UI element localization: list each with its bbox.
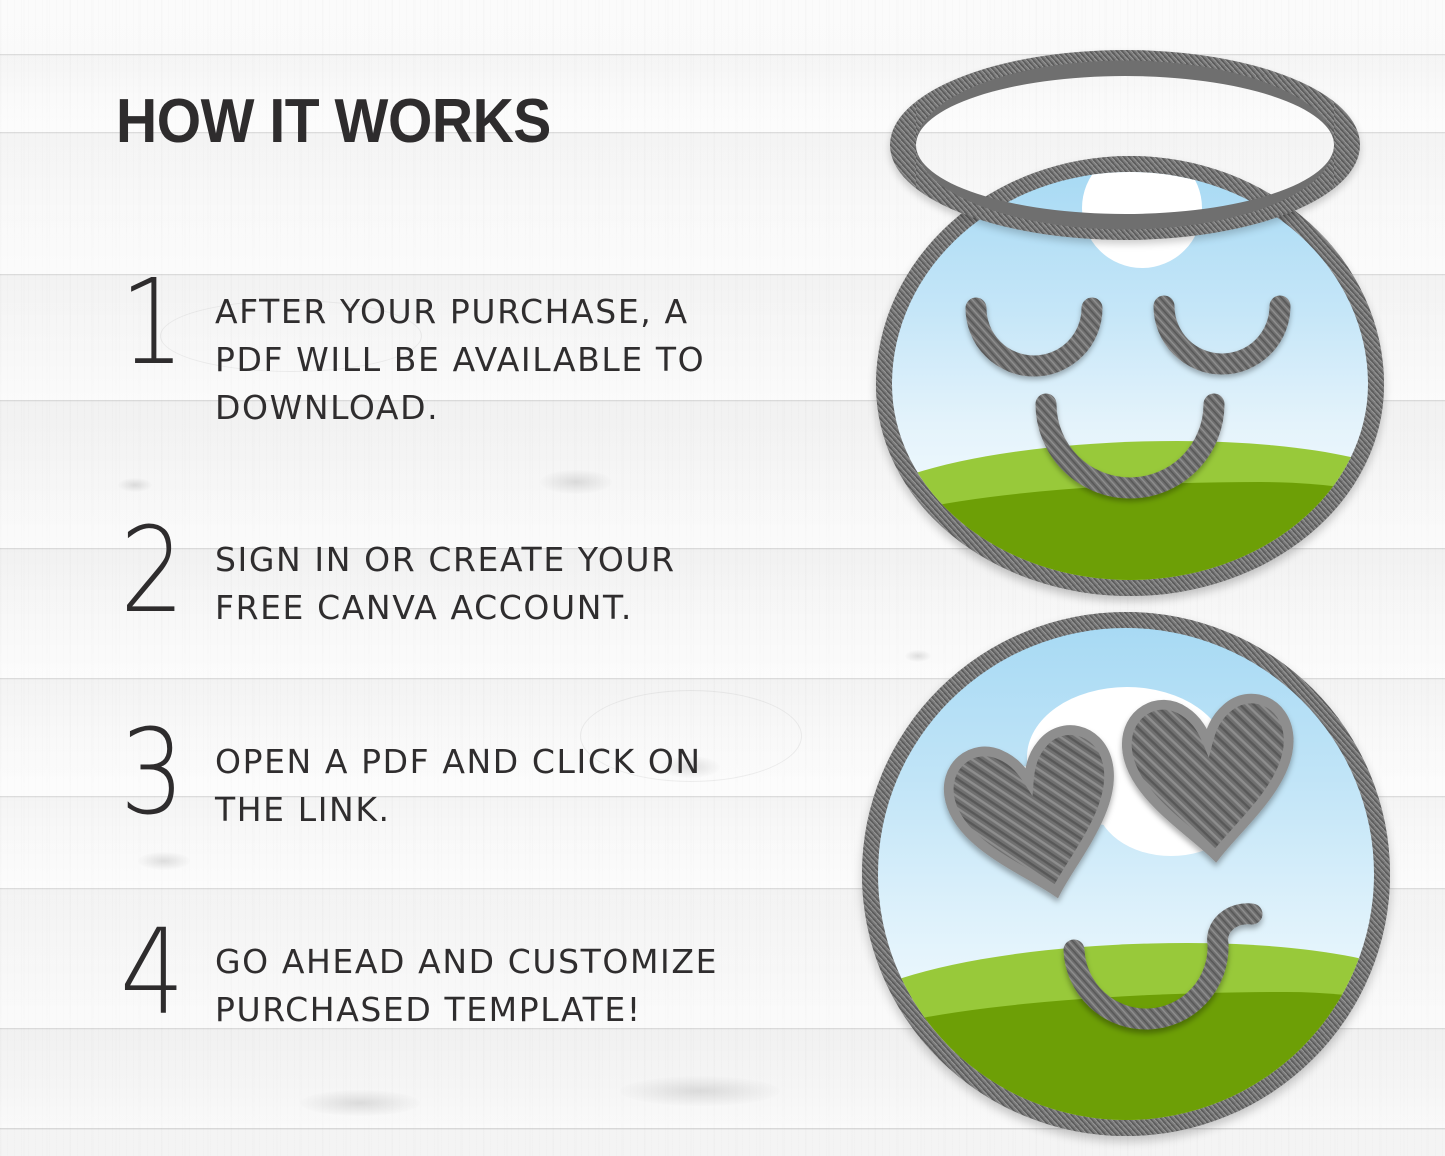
closed-eye-right: [1164, 306, 1280, 364]
step-text-line: AFTER YOUR PURCHASE, A: [215, 288, 705, 336]
smile-mouth: [1074, 914, 1252, 1019]
patch-body: [862, 612, 1390, 1136]
page-title: HOW IT WORKS: [116, 86, 551, 157]
smile-mouth: [1046, 404, 1214, 488]
step-text-line: PURCHASED TEMPLATE!: [215, 986, 718, 1034]
heart-eye-left: [940, 722, 1134, 911]
heart-eyes-smiley-patch: [862, 612, 1390, 1136]
step-text-line: DOWNLOAD.: [215, 384, 705, 432]
step-number: 1: [120, 272, 202, 373]
step-text-line: OPEN A PDF AND CLICK ON: [215, 738, 702, 786]
step-text-line: FREE CANVA ACCOUNT.: [215, 584, 676, 632]
halo-smiley-patch: [860, 26, 1400, 604]
step-text: OPEN A PDF AND CLICK ON THE LINK.: [215, 722, 702, 834]
step-number: 4: [120, 922, 202, 1023]
list-item: 4 GO AHEAD AND CUSTOMIZE PURCHASED TEMPL…: [120, 922, 718, 1034]
step-number: 3: [120, 722, 202, 823]
wood-knot: [540, 470, 612, 494]
step-text: GO AHEAD AND CUSTOMIZE PURCHASED TEMPLAT…: [215, 922, 718, 1034]
list-item: 1 AFTER YOUR PURCHASE, A PDF WILL BE AVA…: [120, 272, 705, 432]
step-text: SIGN IN OR CREATE YOUR FREE CANVA ACCOUN…: [215, 520, 676, 632]
heart-eye-right: [1124, 696, 1296, 861]
list-item: 3 OPEN A PDF AND CLICK ON THE LINK.: [120, 722, 702, 834]
face-features: [862, 612, 1390, 1136]
closed-eye-left: [976, 308, 1092, 366]
step-text: AFTER YOUR PURCHASE, A PDF WILL BE AVAIL…: [215, 272, 705, 432]
step-text-line: SIGN IN OR CREATE YOUR: [215, 536, 676, 584]
step-text-line: THE LINK.: [215, 786, 702, 834]
halo-ring: [890, 50, 1360, 240]
step-text-line: PDF WILL BE AVAILABLE TO: [215, 336, 705, 384]
step-text-line: GO AHEAD AND CUSTOMIZE: [215, 938, 718, 986]
wood-knot: [118, 478, 152, 492]
list-item: 2 SIGN IN OR CREATE YOUR FREE CANVA ACCO…: [120, 520, 676, 632]
wood-knot: [138, 852, 190, 870]
wood-knot: [620, 1076, 780, 1106]
wood-knot: [300, 1090, 420, 1116]
step-number: 2: [120, 520, 202, 621]
how-it-works-graphic: HOW IT WORKS 1 AFTER YOUR PURCHASE, A PD…: [0, 0, 1445, 1156]
